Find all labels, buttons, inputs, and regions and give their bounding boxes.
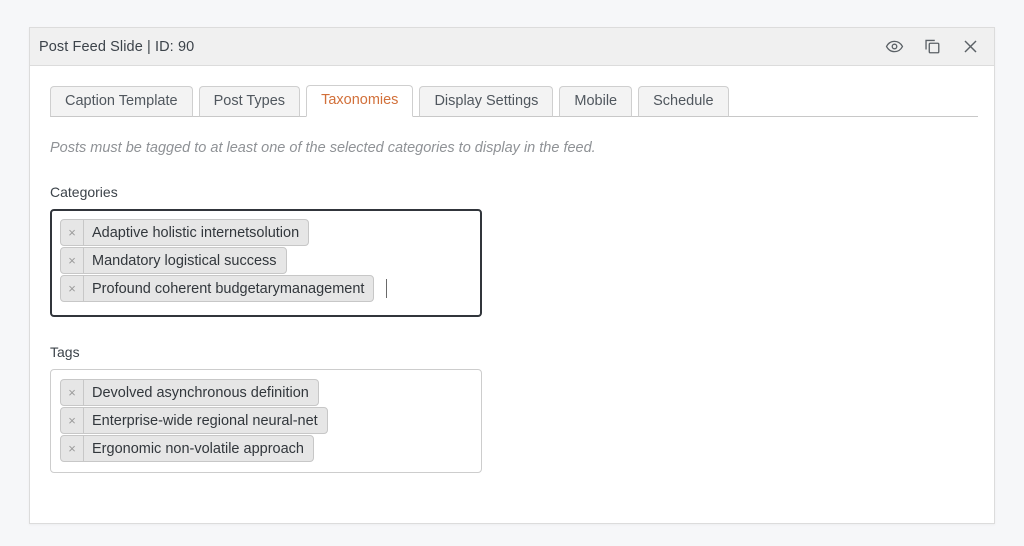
tab-display-settings[interactable]: Display Settings [419,86,553,117]
tab-taxonomies[interactable]: Taxonomies [306,85,413,117]
chip-row: × Mandatory logistical success [60,247,472,275]
tab-bar: Caption Template Post Types Taxonomies D… [50,85,978,117]
header-actions [884,37,980,57]
chip-remove-icon[interactable]: × [61,220,84,245]
tab-post-types[interactable]: Post Types [199,86,300,117]
duplicate-icon[interactable] [922,37,942,57]
tags-label: Tags [50,343,974,361]
page-title: Post Feed Slide | ID: 90 [39,39,884,55]
chip-row: × Enterprise-wide regional neural-net [60,407,472,435]
help-text: Posts must be tagged to at least one of … [50,139,974,157]
chip-label: Devolved asynchronous definition [84,380,318,405]
chip-remove-icon[interactable]: × [61,276,84,301]
chip-row: × Devolved asynchronous definition [60,379,472,407]
post-feed-slide-panel: Post Feed Slide | ID: 90 [29,27,995,524]
chip-row: × Adaptive holistic internetsolution [60,219,472,247]
preview-icon[interactable] [884,37,904,57]
category-chip[interactable]: × Adaptive holistic internetsolution [60,219,309,246]
tabs-wrap: Caption Template Post Types Taxonomies D… [30,66,994,117]
category-chip[interactable]: × Mandatory logistical success [60,247,287,274]
tag-chip[interactable]: × Ergonomic non-volatile approach [60,435,314,462]
chip-remove-icon[interactable]: × [61,436,84,461]
categories-label: Categories [50,183,974,201]
tags-chip-list: × Devolved asynchronous definition × Ent… [60,379,472,463]
tab-panel-taxonomies: Posts must be tagged to at least one of … [30,139,994,473]
chip-remove-icon[interactable]: × [61,380,84,405]
categories-chip-list: × Adaptive holistic internetsolution × M… [60,219,472,307]
tab-caption-template[interactable]: Caption Template [50,86,193,117]
chip-label: Mandatory logistical success [84,248,286,273]
chip-remove-icon[interactable]: × [61,408,84,433]
panel-header: Post Feed Slide | ID: 90 [30,28,994,66]
tags-token-input[interactable]: × Devolved asynchronous definition × Ent… [50,369,482,473]
tag-chip[interactable]: × Devolved asynchronous definition [60,379,319,406]
close-icon[interactable] [960,37,980,57]
chip-label: Profound coherent budgetarymanagement [84,276,373,301]
chip-row: × Profound coherent budgetarymanagement [60,275,472,307]
chip-remove-icon[interactable]: × [61,248,84,273]
chip-row: × Ergonomic non-volatile approach [60,435,472,463]
tab-mobile[interactable]: Mobile [559,86,632,117]
chip-label: Ergonomic non-volatile approach [84,436,313,461]
chip-label: Adaptive holistic internetsolution [84,220,308,245]
tab-schedule[interactable]: Schedule [638,86,728,117]
chip-label: Enterprise-wide regional neural-net [84,408,327,433]
categories-token-input[interactable]: × Adaptive holistic internetsolution × M… [50,209,482,317]
text-caret [386,279,387,298]
category-chip[interactable]: × Profound coherent budgetarymanagement [60,275,374,302]
tag-chip[interactable]: × Enterprise-wide regional neural-net [60,407,328,434]
